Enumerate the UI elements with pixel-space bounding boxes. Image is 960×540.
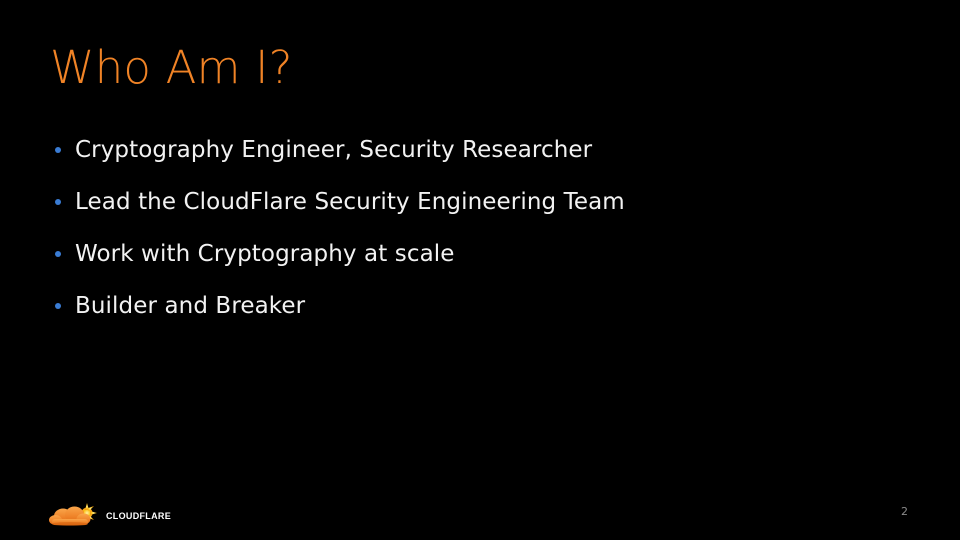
bullet-text: Cryptography Engineer, Security Research… bbox=[75, 137, 592, 163]
bullet-dot-icon bbox=[55, 303, 61, 309]
page-number: 2 bbox=[901, 505, 908, 518]
cloudflare-wordmark: CloudFlare bbox=[106, 507, 171, 522]
presentation-slide: Who Am I? Cryptography Engineer, Securit… bbox=[0, 0, 960, 540]
bullet-text: Work with Cryptography at scale bbox=[75, 241, 455, 267]
list-item: Cryptography Engineer, Security Research… bbox=[50, 124, 910, 176]
cloudflare-logo: CloudFlare bbox=[48, 498, 171, 530]
cloudflare-cloud-sun-icon bbox=[48, 499, 100, 529]
bullet-text: Builder and Breaker bbox=[75, 293, 305, 319]
list-item: Builder and Breaker bbox=[50, 280, 910, 332]
list-item: Lead the CloudFlare Security Engineering… bbox=[50, 176, 910, 228]
bullet-list: Cryptography Engineer, Security Research… bbox=[50, 124, 910, 332]
bullet-dot-icon bbox=[55, 199, 61, 205]
list-item: Work with Cryptography at scale bbox=[50, 228, 910, 280]
slide-title: Who Am I? bbox=[50, 44, 293, 93]
bullet-text: Lead the CloudFlare Security Engineering… bbox=[75, 189, 625, 215]
bullet-dot-icon bbox=[55, 147, 61, 153]
bullet-dot-icon bbox=[55, 251, 61, 257]
